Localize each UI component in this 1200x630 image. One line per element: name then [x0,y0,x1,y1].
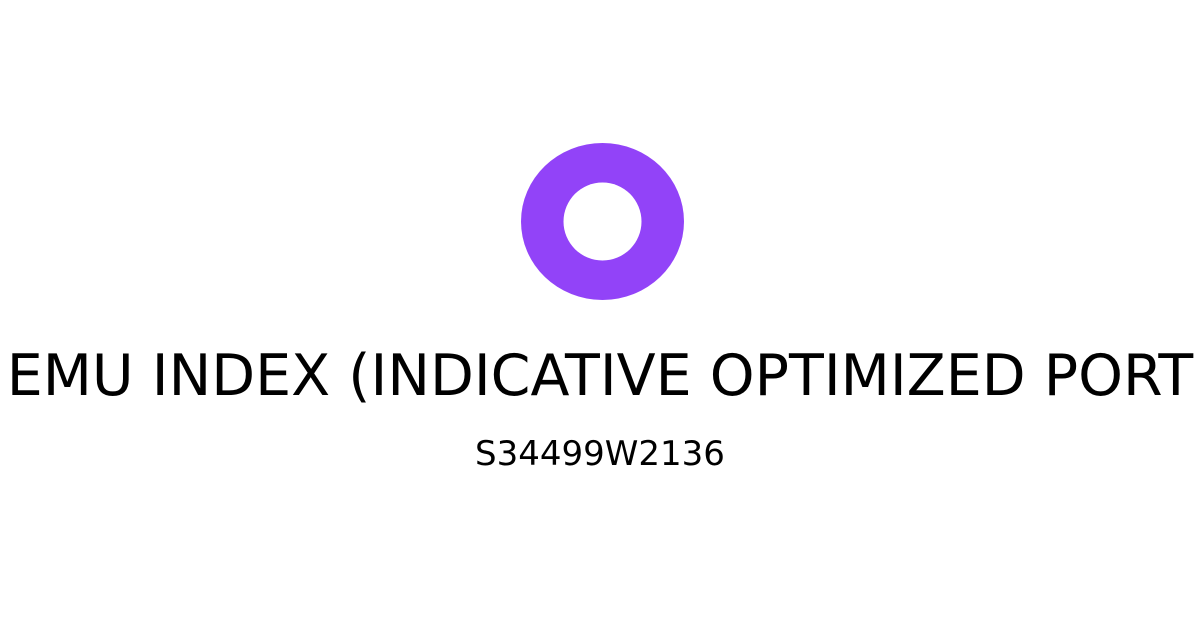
identifier-subtitle: S34499W2136 [0,432,1200,476]
logo-container [0,143,1200,300]
text-container: EMU INDEX (INDICATIVE OPTIMIZED PORT S34… [0,340,1200,540]
page-title: EMU INDEX (INDICATIVE OPTIMIZED PORT [0,340,1200,412]
ring-logo-icon [521,143,684,300]
preview-card: EMU INDEX (INDICATIVE OPTIMIZED PORT S34… [0,0,1200,630]
